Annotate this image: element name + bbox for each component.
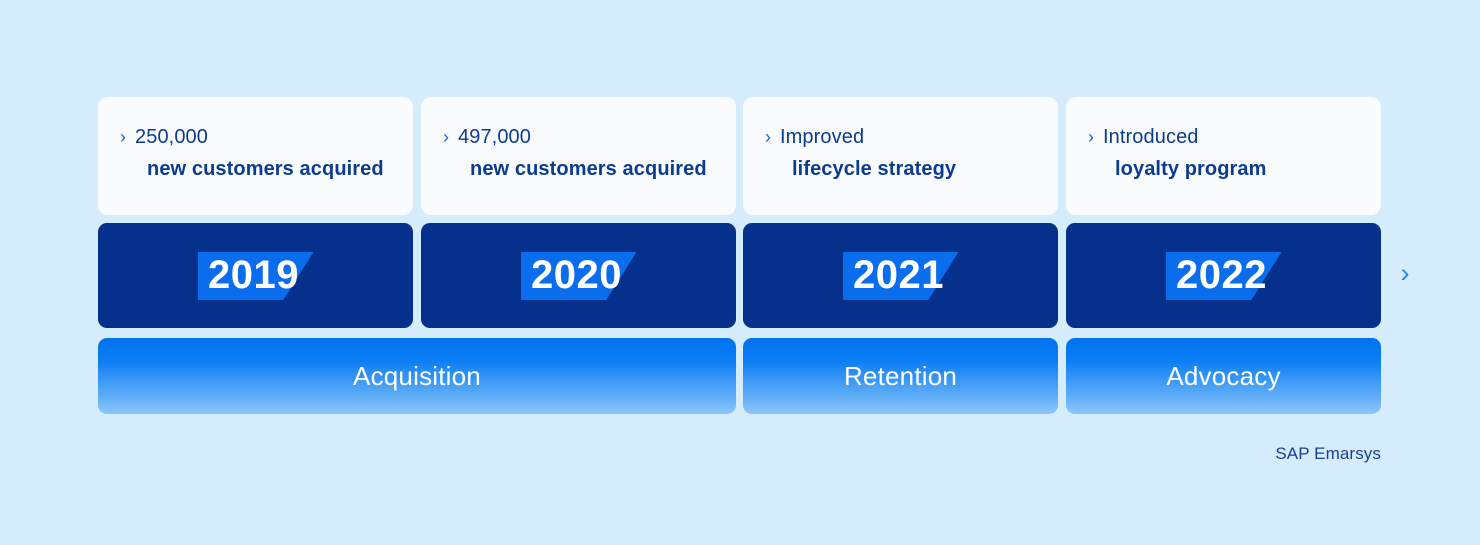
year-inner: 2019 [98, 223, 413, 328]
milestone-subline: lifecycle strategy [792, 159, 1058, 179]
milestone-card-2022[interactable]: › Introduced loyalty program [1066, 97, 1381, 215]
chevron-right-icon: › [120, 127, 126, 147]
milestone-headline-row: › Improved [765, 127, 1058, 147]
stage-label: Retention [844, 361, 957, 392]
stage-label: Acquisition [353, 361, 481, 392]
chevron-right-icon: › [1401, 260, 1410, 287]
milestone-headline: Introduced [1103, 127, 1199, 147]
year-block-2021[interactable]: 2021 [743, 223, 1058, 328]
year-block-2022[interactable]: 2022 [1066, 223, 1381, 328]
chevron-right-icon: › [443, 127, 449, 147]
year-label: 2020 [421, 223, 736, 328]
milestone-headline: 250,000 [135, 127, 208, 147]
year-label: 2022 [1066, 223, 1381, 328]
milestone-headline: Improved [780, 127, 864, 147]
year-label: 2021 [743, 223, 1058, 328]
milestone-subline: new customers acquired [470, 159, 736, 179]
year-inner: 2022 [1066, 223, 1381, 328]
brand-attribution: SAP Emarsys [1275, 444, 1381, 464]
year-block-2020[interactable]: 2020 [421, 223, 736, 328]
milestone-subline: new customers acquired [147, 159, 413, 179]
stage-bar-acquisition[interactable]: Acquisition [98, 338, 736, 414]
milestone-headline-row: › 497,000 [443, 127, 736, 147]
milestone-card-2019[interactable]: › 250,000 new customers acquired [98, 97, 413, 215]
year-inner: 2021 [743, 223, 1058, 328]
milestone-subline: loyalty program [1115, 159, 1381, 179]
stage-bar-retention[interactable]: Retention [743, 338, 1058, 414]
next-arrow-button[interactable]: › [1392, 256, 1418, 290]
chevron-right-icon: › [1088, 127, 1094, 147]
stage-label: Advocacy [1166, 361, 1280, 392]
timeline-infographic: › 250,000 new customers acquired › 497,0… [0, 0, 1480, 545]
milestone-headline-row: › Introduced [1088, 127, 1381, 147]
milestone-headline: 497,000 [458, 127, 531, 147]
year-block-2019[interactable]: 2019 [98, 223, 413, 328]
milestone-card-2021[interactable]: › Improved lifecycle strategy [743, 97, 1058, 215]
milestone-card-2020[interactable]: › 497,000 new customers acquired [421, 97, 736, 215]
year-label: 2019 [98, 223, 413, 328]
milestone-headline-row: › 250,000 [120, 127, 413, 147]
year-inner: 2020 [421, 223, 736, 328]
stage-bar-advocacy[interactable]: Advocacy [1066, 338, 1381, 414]
chevron-right-icon: › [765, 127, 771, 147]
